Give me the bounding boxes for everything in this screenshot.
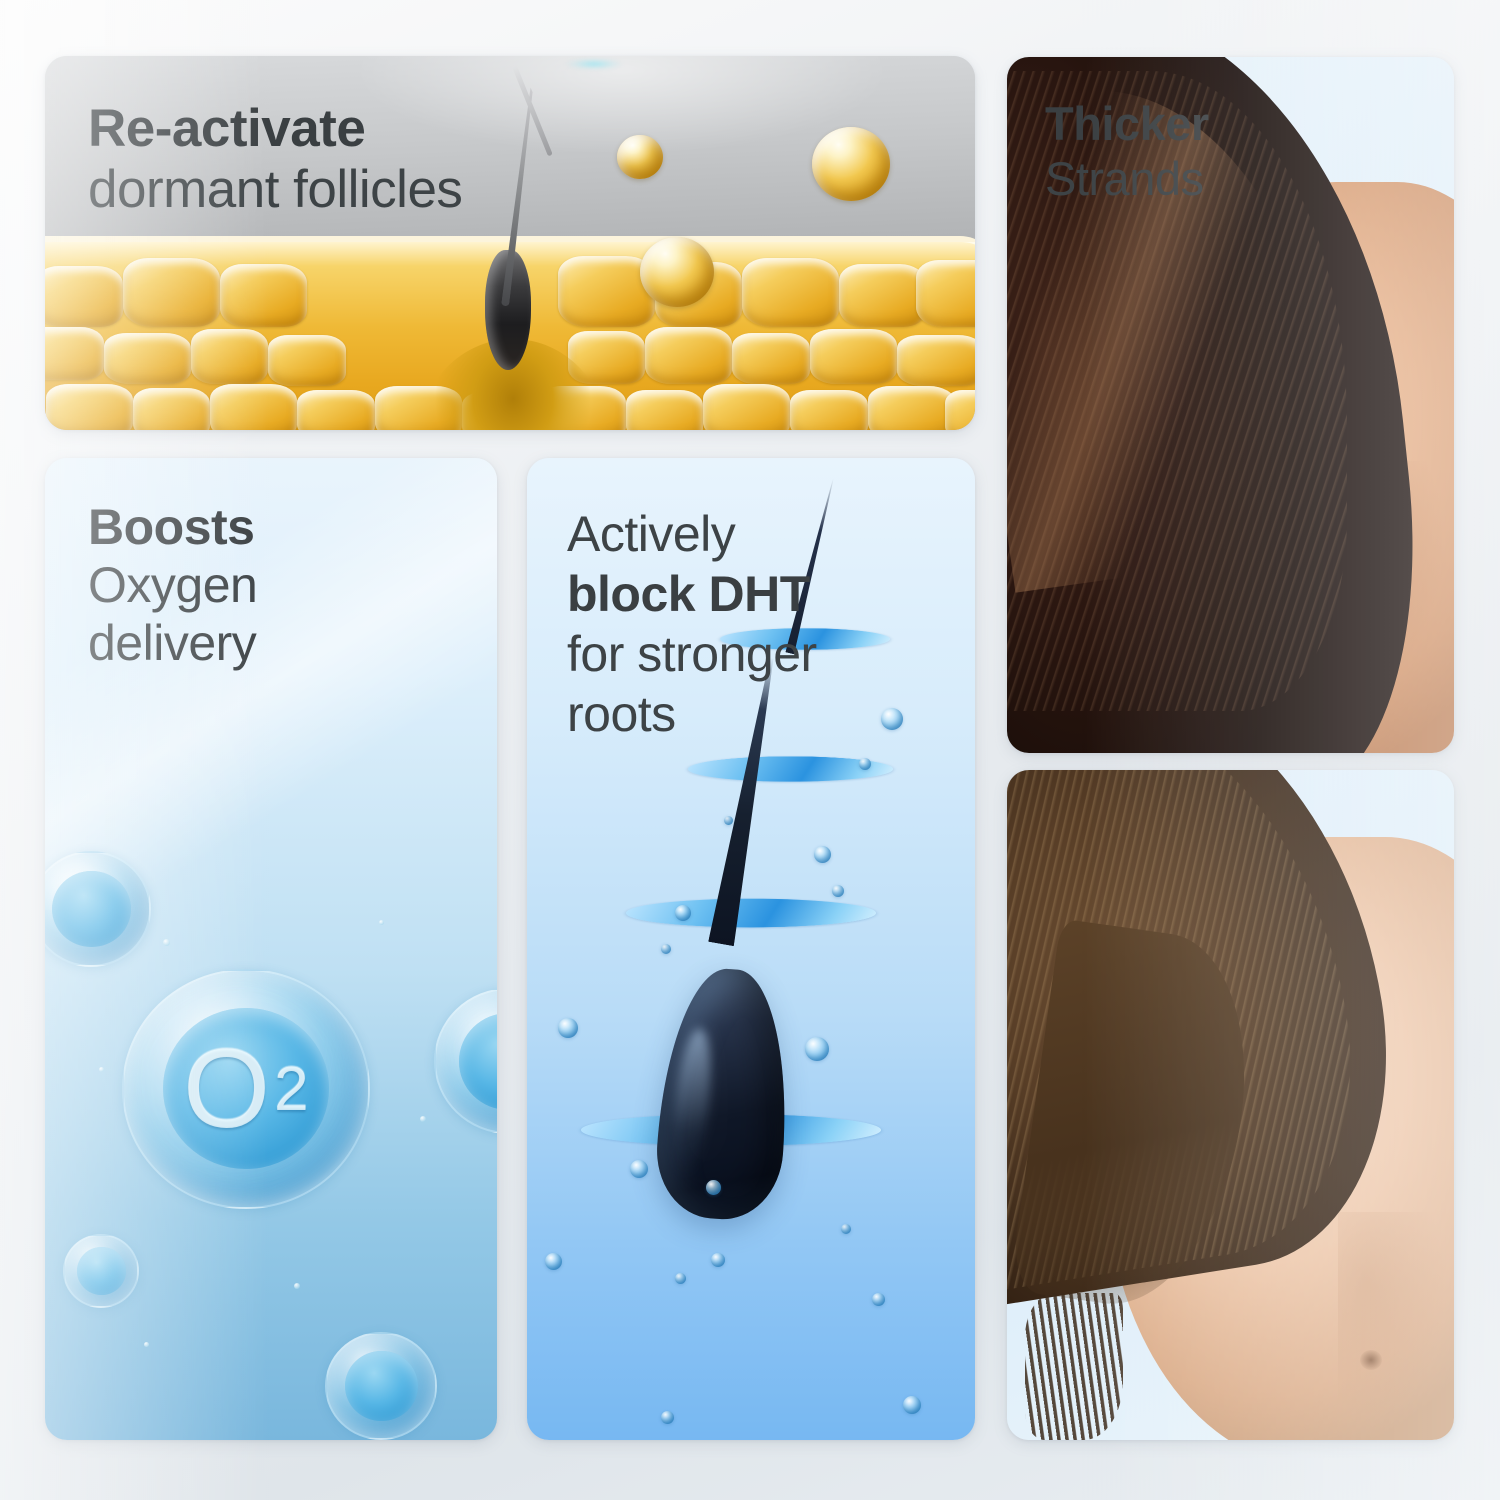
headline-secondary: for stronger <box>567 624 817 684</box>
oxygen-bubble-tiny <box>63 1234 139 1308</box>
panel-thicker-strands: Thicker Strands <box>1007 57 1454 753</box>
o2-molecule-label: O 2 <box>163 1008 329 1168</box>
headline-primary: Thicker <box>1045 97 1209 152</box>
oil-droplet-icon <box>617 135 663 179</box>
headline-secondary: Oxygen <box>88 556 257 614</box>
panel-reactivate-follicles: Re-activate dormant follicles <box>45 56 975 430</box>
benefit-panel-grid: Re-activate dormant follicles Thicker St… <box>0 0 1500 1500</box>
headline-secondary: Strands <box>1045 152 1209 207</box>
panel-headline: Thicker Strands <box>1045 97 1209 206</box>
headline-tertiary: delivery <box>88 614 257 672</box>
panel-block-dht: Actively block DHT for stronger roots <box>527 458 975 1440</box>
o2-subscript: 2 <box>274 1059 308 1121</box>
headline-primary: block DHT <box>567 564 817 624</box>
oxygen-bubble-lower <box>325 1332 437 1440</box>
panel-headline: Re-activate dormant follicles <box>88 98 462 221</box>
o2-letter: O <box>183 1033 270 1145</box>
panel-headline: Boosts Oxygen delivery <box>88 498 257 672</box>
hair-bulb-icon <box>653 965 796 1223</box>
headline-primary: Boosts <box>88 498 257 556</box>
panel-man-portrait <box>1007 770 1454 1440</box>
helix-ring <box>626 898 876 927</box>
headline-lead: Actively <box>567 504 817 564</box>
man-portrait-photo <box>1007 770 1454 1440</box>
light-glint <box>566 59 622 69</box>
panel-boosts-oxygen: O 2 Boosts Oxygen de <box>45 458 497 1440</box>
oil-droplet-icon <box>812 127 890 201</box>
oxygen-bubble-right <box>434 988 497 1134</box>
panel-headline: Actively block DHT for stronger roots <box>567 504 817 744</box>
headline-tertiary: roots <box>567 684 817 744</box>
headline-primary: Re-activate <box>88 98 462 159</box>
oxygen-bubble-main: O 2 <box>122 969 370 1209</box>
headline-secondary: dormant follicles <box>88 159 462 220</box>
